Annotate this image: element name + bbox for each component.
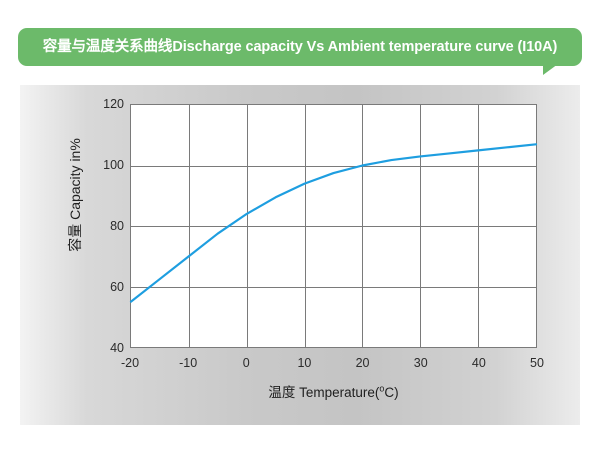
x-tick-0: 0 — [216, 357, 276, 370]
x-tick-50: 50 — [507, 357, 567, 370]
title-banner-tail — [543, 64, 558, 75]
chart-plot-area-background: 容量 Capacity in% 120 100 80 60 40 -20 -10 — [20, 85, 580, 425]
y-tick-120: 120 — [84, 98, 124, 111]
x-axis-label-prefix: 温度 Temperature( — [268, 385, 379, 400]
x-tick-20: 20 — [333, 357, 393, 370]
chart-title-banner: 容量与温度关系曲线Discharge capacity Vs Ambient t… — [18, 28, 582, 66]
chart-title-text: 容量与温度关系曲线Discharge capacity Vs Ambient t… — [43, 40, 558, 55]
x-tick--10: -10 — [158, 357, 218, 370]
capacity-temperature-curve — [131, 105, 536, 347]
plot-box — [130, 104, 537, 348]
y-tick-100: 100 — [84, 159, 124, 172]
x-axis-label-suffix: C) — [384, 385, 398, 400]
x-axis-tick-labels: -20 -10 0 10 20 30 40 50 — [130, 357, 537, 375]
x-tick-10: 10 — [274, 357, 334, 370]
y-tick-40: 40 — [84, 342, 124, 355]
y-tick-80: 80 — [84, 220, 124, 233]
y-axis-tick-labels: 120 100 80 60 40 — [78, 104, 124, 348]
x-axis-label: 温度 Temperature(oC) — [130, 381, 537, 401]
chart-page: 容量与温度关系曲线Discharge capacity Vs Ambient t… — [0, 0, 600, 451]
x-tick-40: 40 — [449, 357, 509, 370]
y-tick-60: 60 — [84, 281, 124, 294]
x-tick-30: 30 — [391, 357, 451, 370]
x-tick--20: -20 — [100, 357, 160, 370]
